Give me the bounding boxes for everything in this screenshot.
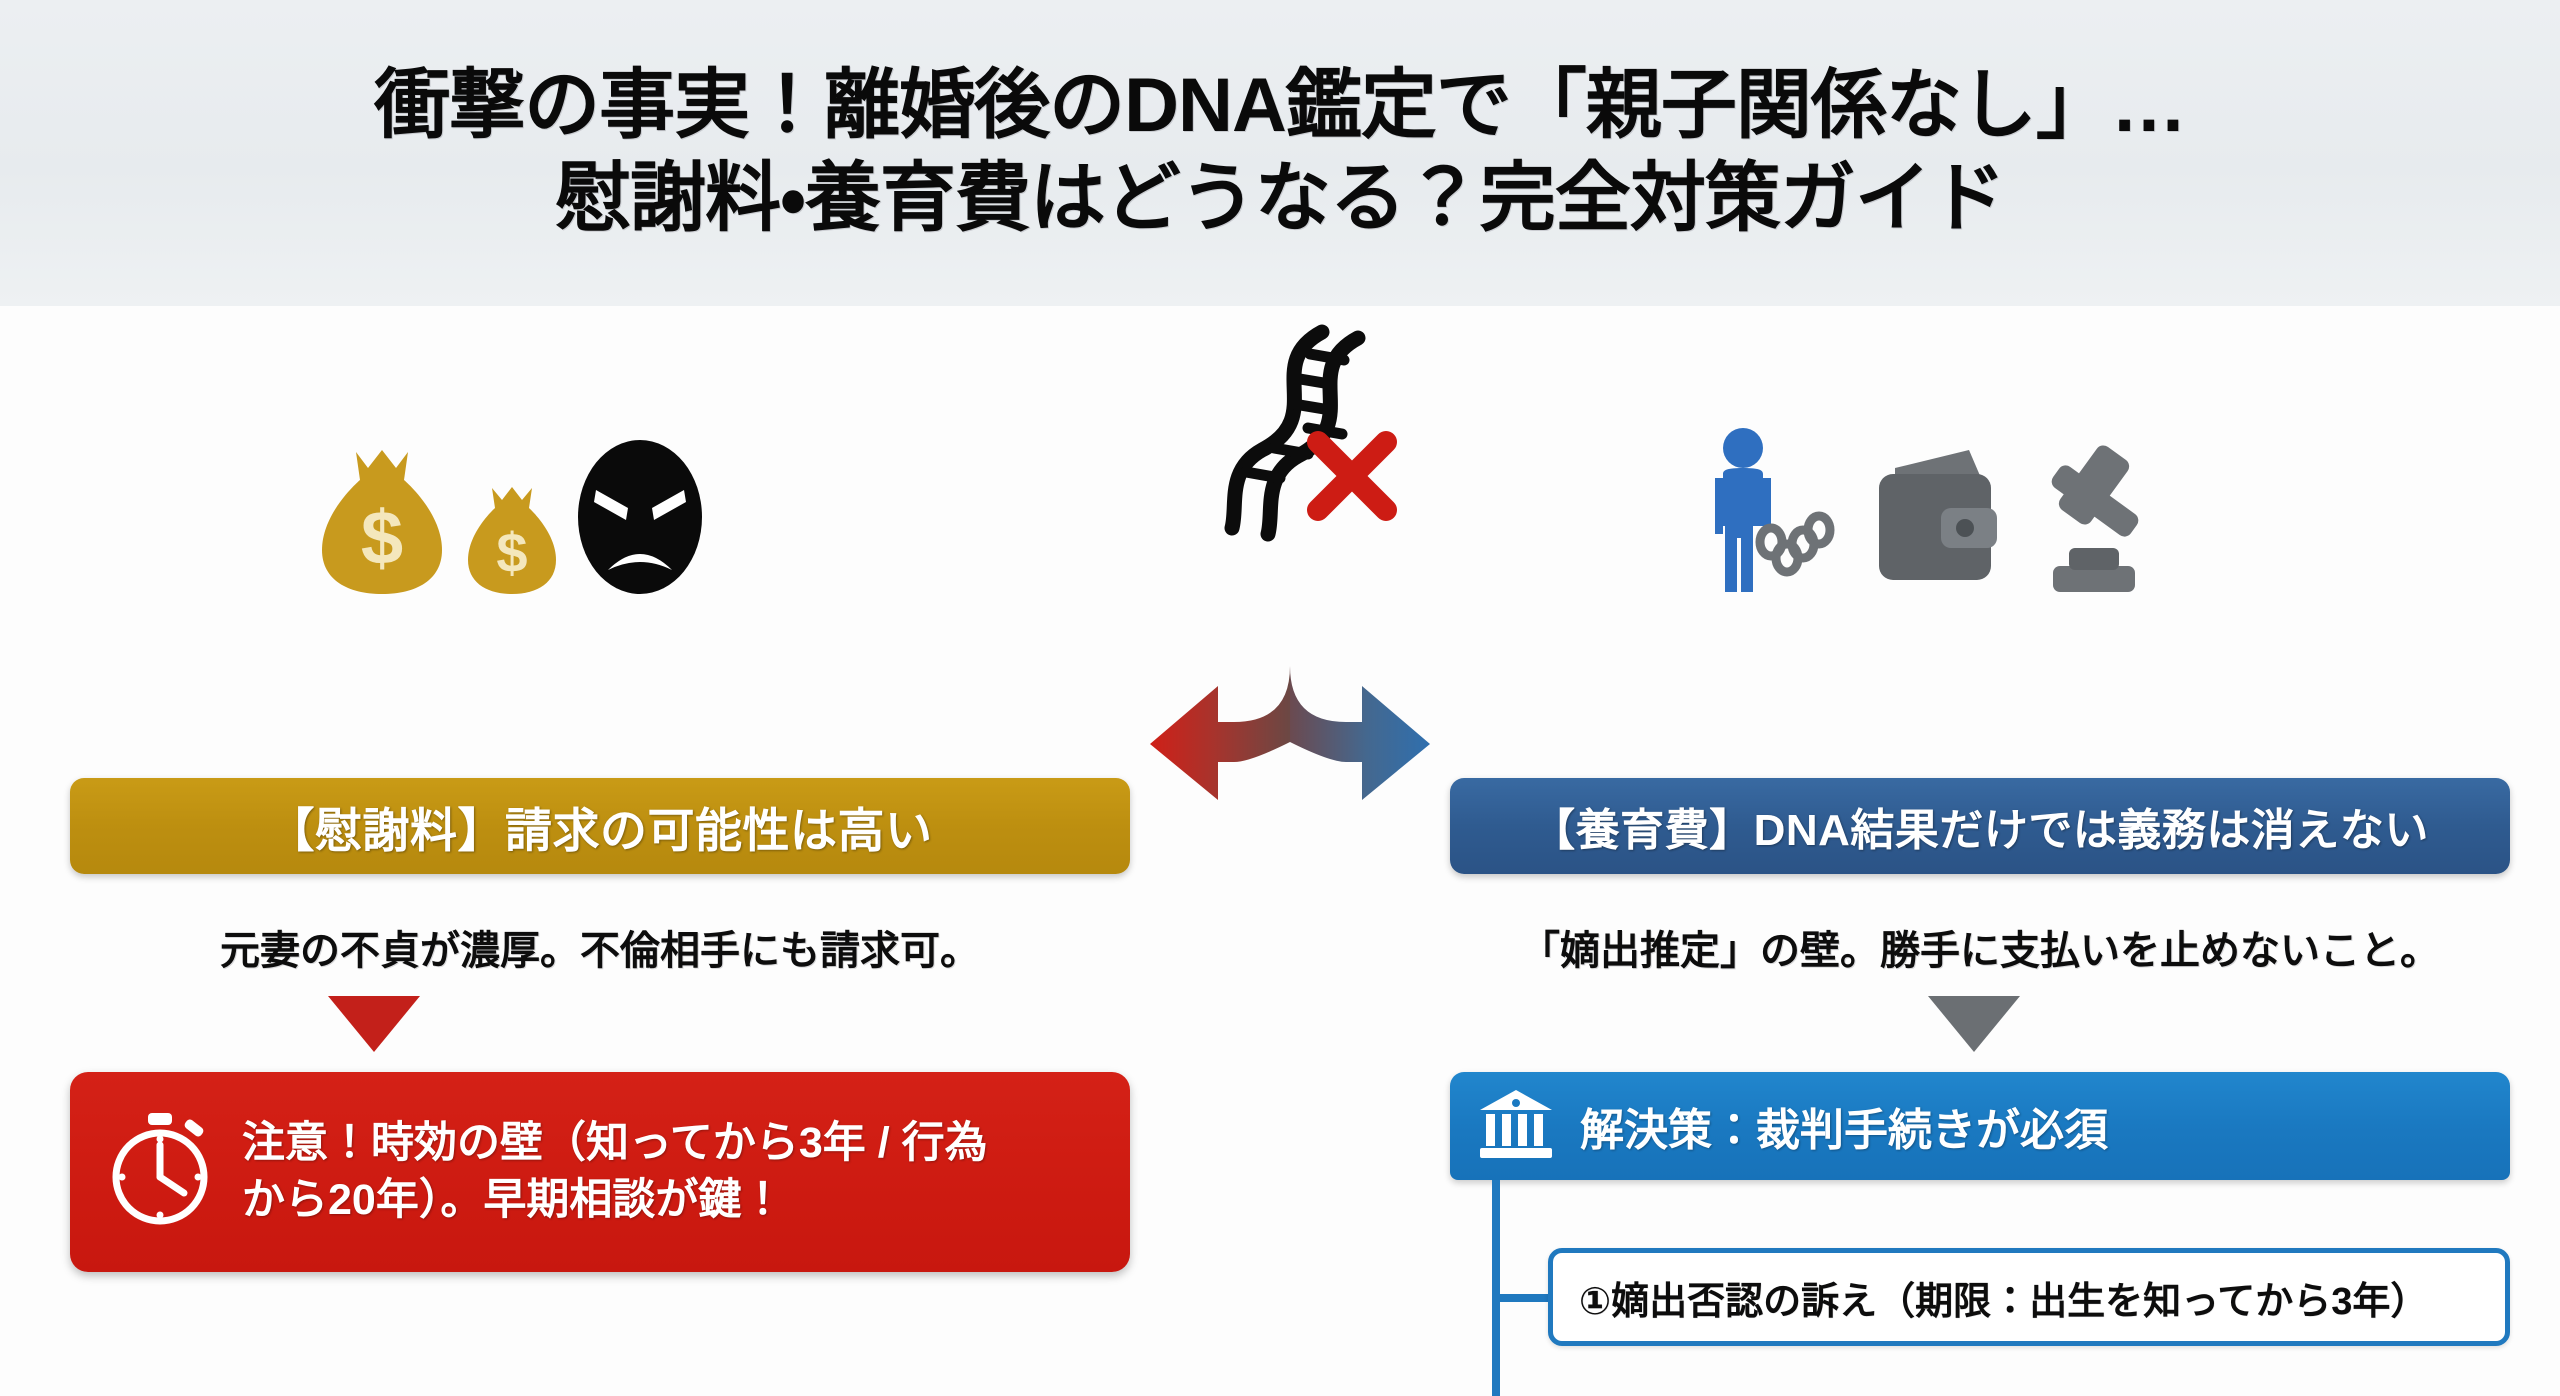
compensation-subtitle: 元妻の不貞が濃厚。不倫相手にも請求可。	[70, 918, 1130, 976]
person-with-chain-icon	[1697, 426, 1847, 596]
tree-connector-vertical	[1492, 1180, 1500, 1396]
child-support-banner[interactable]: 【養育費】DNA結果だけでは義務は消えない	[1450, 778, 2510, 874]
solution-item-1-label: ①嫡出否認の訴え（期限：出生を知ってから3年）	[1579, 1270, 2428, 1325]
page-title-line-1: 衝撃の事実！離婚後のDNA鑑定で「親子関係なし」…	[374, 60, 2186, 153]
gavel-icon	[2023, 436, 2163, 596]
center-transition-stage	[1130, 306, 1450, 926]
page-title-line-2: 慰謝料・養育費はどうなる？完全対策ガイド	[555, 153, 2005, 246]
solution-header-label: 解決策：裁判手続きが必須	[1580, 1094, 2108, 1158]
wallet-icon	[1865, 446, 2005, 596]
tree-connector-branch-1	[1492, 1294, 1554, 1302]
warning-line-2: から20年）。早期相談が鍵！	[242, 1172, 988, 1229]
child-support-subtitle: 「嫡出推定」の壁。勝手に支払いを止めないこと。	[1450, 918, 2510, 976]
warning-line-1: 注意！時効の壁（知ってから3年 / 行為	[242, 1115, 988, 1172]
stopwatch-icon	[104, 1111, 216, 1234]
red-down-triangle-icon	[328, 996, 420, 1052]
statute-of-limitations-warning[interactable]: 注意！時効の壁（知ってから3年 / 行為 から20年）。早期相談が鍵！	[70, 1072, 1130, 1272]
courthouse-bank-icon	[1478, 1086, 1554, 1167]
compensation-banner-label: 【慰謝料】請求の可能性は高い	[268, 792, 933, 861]
svg-text:$: $	[361, 496, 403, 581]
svg-text:$: $	[496, 521, 527, 584]
dna-helix-icon	[1190, 320, 1400, 550]
red-x-icon	[1318, 442, 1386, 510]
page-header: 衝撃の事実！離婚後のDNA鑑定で「親子関係なし」… 慰謝料・養育費はどうなる？完…	[0, 0, 2560, 306]
split-arrow-fork	[1110, 546, 1470, 846]
money-bag-icon: $	[316, 446, 448, 596]
compensation-banner[interactable]: 【慰謝料】請求の可能性は高い	[70, 778, 1130, 874]
solution-header[interactable]: 解決策：裁判手続きが必須	[1450, 1072, 2510, 1180]
warning-text-block: 注意！時効の壁（知ってから3年 / 行為 から20年）。早期相談が鍵！	[242, 1115, 988, 1229]
right-icon-row	[1690, 416, 2170, 596]
left-icon-row: $ $	[300, 416, 720, 596]
infographic-body: $ $	[0, 306, 2560, 1396]
infographic-page: 衝撃の事実！離婚後のDNA鑑定で「親子関係なし」… 慰謝料・養育費はどうなる？完…	[0, 0, 2560, 1396]
gray-down-triangle-icon	[1928, 996, 2020, 1052]
angry-face-icon	[576, 438, 704, 596]
money-bag-small-icon: $	[466, 484, 558, 596]
solution-item-1[interactable]: ①嫡出否認の訴え（期限：出生を知ってから3年）	[1548, 1248, 2510, 1346]
child-support-banner-label: 【養育費】DNA結果だけでは義務は消えない	[1531, 794, 2429, 858]
